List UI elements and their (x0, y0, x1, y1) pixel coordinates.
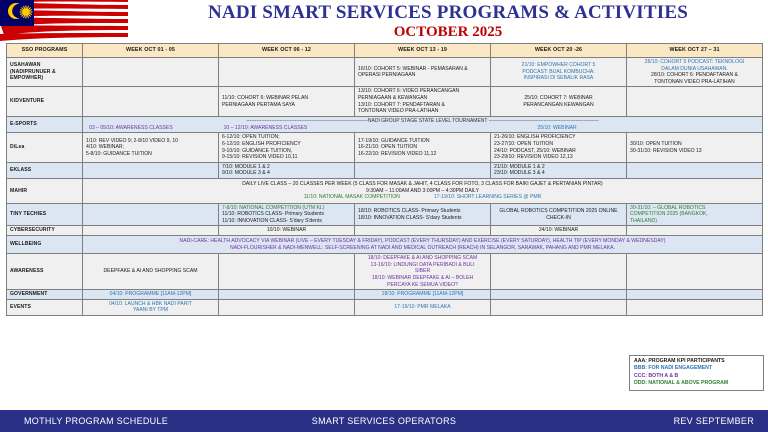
cell-line: DEEPFAKE & AI AND SHOPPING SCAM (86, 268, 215, 275)
row-label-wellbeing: WELLBEING (7, 236, 83, 254)
column-header-0: SSO PROGRAMS (7, 44, 83, 58)
row-label-e-sports: E-SPORTS (7, 116, 83, 133)
cell-line: 5-8/10: GUIDANCE TUITION (86, 151, 215, 158)
cell-line: 18/10: INNOVATION CLASS- S'dary Students (358, 215, 487, 222)
cell-line: 24/10: WEBINAR (494, 227, 623, 234)
week-cell: 6-12/10: OPEN TUITION;6-12/10: ENGLISH P… (219, 133, 355, 162)
cell-line: 30-31/10: – GLOBAL ROBOTICS (630, 205, 759, 212)
cell-line: 11/10: COHORT 6: WEBINAR PELAN (222, 95, 351, 102)
week-cell: 25/10: WEBINAR (490, 125, 625, 132)
cell-line: 04/10: PROGRAMME [11AM-12PM] (86, 291, 215, 298)
cell-line: 23-27/10: OPEN TUITION (494, 141, 623, 148)
cell-line: TONTONAN VIDEO PRA-LATIHAN (630, 79, 759, 86)
cell-line: 1/10: REV VIDEO 9; 2-8/10 VIDEO 9, 10 (86, 138, 215, 145)
cell-line: 18/10: DEEPFAKE & AI AND SHOPPING SCAM (358, 255, 487, 262)
week-cell: 18/10: DEEPFAKE & AI AND SHOPPING SCAM13… (355, 254, 491, 290)
week-cell: 7/10: MODULE 1 & 29/10: MODULE 3 & 4 (219, 162, 355, 178)
row-label-cybersecurity: CYBERSECURITY (7, 226, 83, 236)
cell-line: 13/10: COHORT 7: PENDAFTARAN & (358, 102, 487, 109)
table-row: DiLea1/10: REV VIDEO 9; 2-8/10 VIDEO 9, … (7, 133, 763, 162)
cell-line: 21-26/10: ENGLISH PROFICIENCY (494, 134, 623, 141)
cell-line: 13/10: COHORT 6: VIDEO PERANCANGAN (358, 88, 487, 95)
table-row: E-SPORTS--------------------------------… (7, 116, 763, 133)
row-label-government: GOVERNMENT (7, 290, 83, 300)
cell-line: 23/10: MODULE 3 & 4 (494, 170, 623, 177)
cell-line: 6-12/10: OPEN TUITION; (222, 134, 351, 141)
cell-line: TONTONAN VIDEO PRA-LATIHAN (358, 108, 487, 115)
merged-cell: DAILY LIVE CLASS – 20 CLASSES PER WEEK (… (83, 178, 763, 203)
week-cell (355, 162, 491, 178)
legend-box: AAA: PROGRAM KPI PARTICIPANTSBBB: FOR NA… (629, 355, 764, 391)
table-row: KIDVENTURE11/10: COHORT 6: WEBINAR PELAN… (7, 87, 763, 116)
cell-line: SIBER (358, 268, 487, 275)
week-cell (627, 87, 763, 116)
cell-line: NADI-CARE: HEALTH ADVOCACY VIA WEBINAR (… (87, 238, 758, 245)
table-row: MAHIRDAILY LIVE CLASS – 20 CLASSES PER W… (7, 178, 763, 203)
week-cell: 1/10: REV VIDEO 9; 2-8/10 VIDEO 9, 104/1… (83, 133, 219, 162)
cell-line: 17-19/10: PMR MELAKA (358, 304, 487, 311)
table-row: CYBERSECURITY10/10: WEBINAR24/10: WEBINA… (7, 226, 763, 236)
cell-line: 28/10: COHORT 5 PODCAST: TEKNOLOGI (630, 59, 759, 66)
cell-line: 9:30AM – 11:00AM AND 3:00PM – 4:30PM DAI… (87, 188, 758, 195)
week-cell (624, 125, 759, 132)
legend-item-3: DDD: NATIONAL & ABOVE PROGRAM (634, 380, 759, 387)
cell-line: 28/10: COHORT 6: PENDAFTARAN & (630, 72, 759, 79)
schedule-page: NADI SMART SERVICES PROGRAMS & ACTIVITIE… (0, 0, 768, 432)
column-header-1: WEEK OCT 01 - 05 (83, 44, 219, 58)
cell-line: YAANI BY TPM (86, 307, 215, 314)
cell-line: DALAM DUNIA USAHAWAN. (630, 66, 759, 73)
cell-line: NADI-FLOURISHER & NADI-MENWELL: SELF-SCR… (87, 245, 758, 252)
week-cell (219, 254, 355, 290)
cell-line: 25/10: COHORT 7: WEBINAR (494, 95, 623, 102)
week-cell (627, 290, 763, 300)
cell-line: COMPETITION 2025 (BANGKOK, (630, 211, 759, 218)
cell-line: 30/10: OPEN TUITION (630, 141, 759, 148)
merged-cell: NADI-CARE: HEALTH ADVOCACY VIA WEBINAR (… (83, 236, 763, 254)
cell-line: 16-21/10: OPEN TUITION (358, 144, 487, 151)
week-cell: 7-8/10: NATIONAL COMPETITION (UTM KL)11/… (219, 203, 355, 226)
cell-line: GLOBAL ROBOTICS COMPETITION 2025 ONLINE … (494, 208, 623, 221)
cell-line: 11/10: NATIONAL MASAK COMPETITION (304, 194, 400, 201)
column-header-4: WEEK OCT 20 -26 (491, 44, 627, 58)
table-row: EKLASS7/10: MODULE 1 & 29/10: MODULE 3 &… (7, 162, 763, 178)
column-header-2: WEEK OCT 06 - 12 (219, 44, 355, 58)
row-label-events: EVENTS (7, 299, 83, 315)
cell-line: 23-29/10: REVISION VIDEO 12,13 (494, 154, 623, 161)
cell-line: 17-19/10: SHORT LEARNING SERIES @ PMR (434, 194, 541, 201)
table-row: AWARENESSDEEPFAKE & AI AND SHOPPING SCAM… (7, 254, 763, 290)
esports-banner-cell: ----------------------------------------… (83, 116, 763, 133)
cell-line: 7-8/10: NATIONAL COMPETITION (UTM KL) (222, 205, 351, 212)
cell-line: 11/10: INNOVATION CLASS- S'dary S'dents (222, 218, 351, 225)
week-cell (491, 290, 627, 300)
cell-line: DAILY LIVE CLASS – 20 CLASSES PER WEEK (… (87, 181, 758, 188)
row-label-awareness: AWARENESS (7, 254, 83, 290)
footer-middle: SMART SERVICES OPERATORS (312, 416, 456, 426)
cell-line: 04/10: LAUNCH & HBK NADI PARIT (86, 301, 215, 308)
cell-line: PERNIAGAAN PERTAMA SAYA (222, 102, 351, 109)
schedule-table: SSO PROGRAMSWEEK OCT 01 - 05WEEK OCT 06 … (6, 43, 763, 316)
merged-split-row: 11/10: NATIONAL MASAK COMPETITION17-19/1… (87, 194, 758, 201)
cell-line: INSPIRASI DI SEBALIK RASA (494, 75, 623, 82)
table-row: EVENTS04/10: LAUNCH & HBK NADI PARITYAAN… (7, 299, 763, 315)
week-cell (627, 254, 763, 290)
row-label-usahawan-nadiprunuer-empowher: USAHAWAN (NADIPRUNUER & EMPOWHER) (7, 58, 83, 87)
week-cell (83, 162, 219, 178)
week-cell: 03 – 05/10: AWARENESS CLASSES (86, 125, 221, 132)
page-subtitle: OCTOBER 2025 (394, 24, 503, 41)
cell-line: PERCAYA KE SEMUA VIDEO? (358, 282, 487, 289)
row-label-dilea: DiLea (7, 133, 83, 162)
table-row: WELLBEINGNADI-CARE: HEALTH ADVOCACY VIA … (7, 236, 763, 254)
cell-line: 13-16/10: LINDUNGI DATA PERIBADI & BULI (358, 262, 487, 269)
week-cell: 30-31/10: – GLOBAL ROBOTICSCOMPETITION 2… (627, 203, 763, 226)
table-row: GOVERNMENT04/10: PROGRAMME [11AM-12PM]18… (7, 290, 763, 300)
row-label-tiny-techies: TINY TECHIES (7, 203, 83, 226)
cell-line: PERANCANGAN KEWANGAN (494, 102, 623, 109)
week-cell (83, 226, 219, 236)
page-footer: MOTHLY PROGRAM SCHEDULE SMART SERVICES O… (0, 410, 768, 432)
cell-line: 16/10: COHORT 5: WEBINAR - PEMASARAN & (358, 66, 487, 73)
cell-line: 9/10: MODULE 3 & 4 (222, 170, 351, 177)
week-cell: 04/10: LAUNCH & HBK NADI PARITYAANI BY T… (83, 299, 219, 315)
cell-line: 21/10: MODULE 1 & 2 (494, 164, 623, 171)
week-cell (627, 226, 763, 236)
week-cell: 21/10: EMPOWHER COHORT 5PODCAST: BUAL KO… (491, 58, 627, 87)
cell-line: THAILAND) (630, 218, 759, 225)
legend-item-1: BBB: FOR NADI ENGAGEMENT (634, 365, 759, 372)
cell-line: 16-22/10: REVISION VIDEO 11,12 (358, 151, 487, 158)
page-title: NADI SMART SERVICES PROGRAMS & ACTIVITIE… (208, 2, 688, 23)
week-cell (627, 299, 763, 315)
week-cell: 10/10: WEBINAR (219, 226, 355, 236)
row-label-mahir: MAHIR (7, 178, 83, 203)
column-header-3: WEEK OCT 13 - 19 (355, 44, 491, 58)
week-cell: 16/10: COHORT 5: WEBINAR - PEMASARAN &OP… (355, 58, 491, 87)
week-cell (355, 226, 491, 236)
week-cell (83, 203, 219, 226)
week-cell: 18/10: PROGRAMME [11AM-12PM] (355, 290, 491, 300)
week-cell (627, 162, 763, 178)
footer-left: MOTHLY PROGRAM SCHEDULE (24, 416, 168, 426)
tournament-banner: ----------------------------------------… (86, 118, 759, 125)
week-cell (219, 299, 355, 315)
row-label-eklass: EKLASS (7, 162, 83, 178)
table-body: USAHAWAN (NADIPRUNUER & EMPOWHER)16/10: … (7, 58, 763, 316)
footer-right: REV SEPTEMBER (674, 416, 754, 426)
week-cell: 30/10: OPEN TUITION30-31/10: REVISION VI… (627, 133, 763, 162)
cell-line: 17-19/10: GUIDANCE TUITION (358, 138, 487, 145)
week-cell: 21-26/10: ENGLISH PROFICIENCY23-27/10: O… (491, 133, 627, 162)
cell-line: 6-12/10: ENGLISH PROFICIENCY (222, 141, 351, 148)
cell-line: 18/10: ROBOTICS CLASS- Primary Students (358, 208, 487, 215)
cell-line: 10/10: WEBINAR (222, 227, 351, 234)
week-cell: 25/10: COHORT 7: WEBINARPERANCANGAN KEWA… (491, 87, 627, 116)
table-row: TINY TECHIES7-8/10: NATIONAL COMPETITION… (7, 203, 763, 226)
cell-line: PODCAST: BUAL KOMBUCHA: (494, 69, 623, 76)
cell-line: 18/10: PROGRAMME [11AM-12PM] (358, 291, 487, 298)
week-cell: 04/10: PROGRAMME [11AM-12PM] (83, 290, 219, 300)
column-header-5: WEEK OCT 27 – 31 (627, 44, 763, 58)
week-cell: 17-19/10: GUIDANCE TUITION16-21/10: OPEN… (355, 133, 491, 162)
cell-line: 11/10: ROBOTICS CLASS- Primary Students (222, 211, 351, 218)
legend-item-0: AAA: PROGRAM KPI PARTICIPANTS (634, 358, 759, 365)
week-cell (83, 87, 219, 116)
malaysia-flag-icon (0, 0, 128, 42)
cell-line: 18/10: WEBINAR DEEPFAKE & AI – BOLEH (358, 275, 487, 282)
header-row: SSO PROGRAMSWEEK OCT 01 - 05WEEK OCT 06 … (7, 44, 763, 58)
cell-line: PERNIAGAAN & KEWANGAN (358, 95, 487, 102)
week-cell: 11/10: COHORT 6: WEBINAR PELANPERNIAGAAN… (219, 87, 355, 116)
table-row: USAHAWAN (NADIPRUNUER & EMPOWHER)16/10: … (7, 58, 763, 87)
week-cell (355, 125, 490, 132)
page-header: NADI SMART SERVICES PROGRAMS & ACTIVITIE… (128, 0, 768, 42)
week-cell: 18/10: ROBOTICS CLASS- Primary Students1… (355, 203, 491, 226)
cell-line: 24/10: PODCAST, 25/10: WEBINAR (494, 148, 623, 155)
table-header: SSO PROGRAMSWEEK OCT 01 - 05WEEK OCT 06 … (7, 44, 763, 58)
cell-line: 25/10: WEBINAR (493, 125, 622, 132)
week-cell: 28/10: COHORT 5 PODCAST: TEKNOLOGIDALAM … (627, 58, 763, 87)
cell-line: 21/10: EMPOWHER COHORT 5 (494, 62, 623, 69)
cell-line: 9-10/10: GUIDANCE TUITION, (222, 148, 351, 155)
week-cell: 21/10: MODULE 1 & 223/10: MODULE 3 & 4 (491, 162, 627, 178)
week-cell: 24/10: WEBINAR (491, 226, 627, 236)
week-cell (219, 290, 355, 300)
cell-line: 9-15/10: REVISION VIDEO 10,11 (222, 154, 351, 161)
week-cell: 10 – 12/10: AWARENESS CLASSES (221, 125, 356, 132)
row-label-kidventure: KIDVENTURE (7, 87, 83, 116)
week-cell (219, 58, 355, 87)
week-cell (491, 254, 627, 290)
week-cell: DEEPFAKE & AI AND SHOPPING SCAM (83, 254, 219, 290)
week-cell (83, 58, 219, 87)
week-cell (491, 299, 627, 315)
legend-item-2: CCC: BOTH A & B (634, 373, 759, 380)
week-cell: GLOBAL ROBOTICS COMPETITION 2025 ONLINE … (491, 203, 627, 226)
cell-line: 30-31/10: REVISION VIDEO 13 (630, 148, 759, 155)
cell-line: 03 – 05/10: AWARENESS CLASSES (89, 125, 218, 132)
cell-line: 7/10: MODULE 1 & 2 (222, 164, 351, 171)
week-cell: 17-19/10: PMR MELAKA (355, 299, 491, 315)
cell-line: OPERASI PERNIAGAAN (358, 72, 487, 79)
cell-line: 4/10: WEBINAR; (86, 144, 215, 151)
week-cell: 13/10: COHORT 6: VIDEO PERANCANGANPERNIA… (355, 87, 491, 116)
cell-line: 10 – 12/10: AWARENESS CLASSES (224, 125, 353, 132)
